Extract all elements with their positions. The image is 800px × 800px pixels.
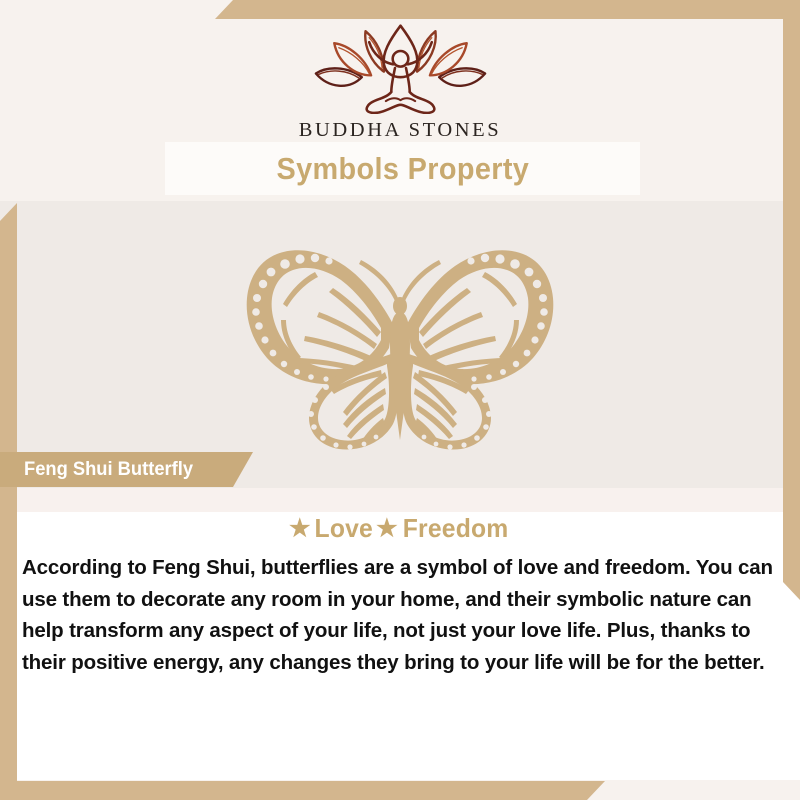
brand-logo: BUDDHA STONES xyxy=(0,22,800,142)
feng-shui-butterfly-label: Feng Shui Butterfly xyxy=(0,452,253,487)
page-title: Symbols Property xyxy=(276,151,529,187)
tagline-word-one: Love xyxy=(314,513,372,544)
butterfly-icon xyxy=(205,228,595,453)
tagline-word-two: Freedom xyxy=(403,513,509,544)
gold-frame-left-bar xyxy=(0,203,17,800)
tagline: ★ Love ★ Freedom xyxy=(0,513,800,544)
label-text: Feng Shui Butterfly xyxy=(24,458,193,481)
brand-wordmark: BUDDHA STONES xyxy=(299,119,502,142)
gold-frame-top-bar xyxy=(215,0,800,19)
star-middle-icon: ★ xyxy=(376,517,398,541)
page-title-band: Symbols Property xyxy=(165,142,640,195)
description-paragraph: According to Feng Shui, butterflies are … xyxy=(22,552,786,678)
star-left-icon: ★ xyxy=(289,517,311,541)
background-accent-band xyxy=(0,488,800,512)
gold-frame-bottom-bar xyxy=(0,781,605,800)
infographic-page: BUDDHA STONES Symbols Property xyxy=(0,0,800,800)
lotus-meditation-figure-icon xyxy=(308,22,493,114)
